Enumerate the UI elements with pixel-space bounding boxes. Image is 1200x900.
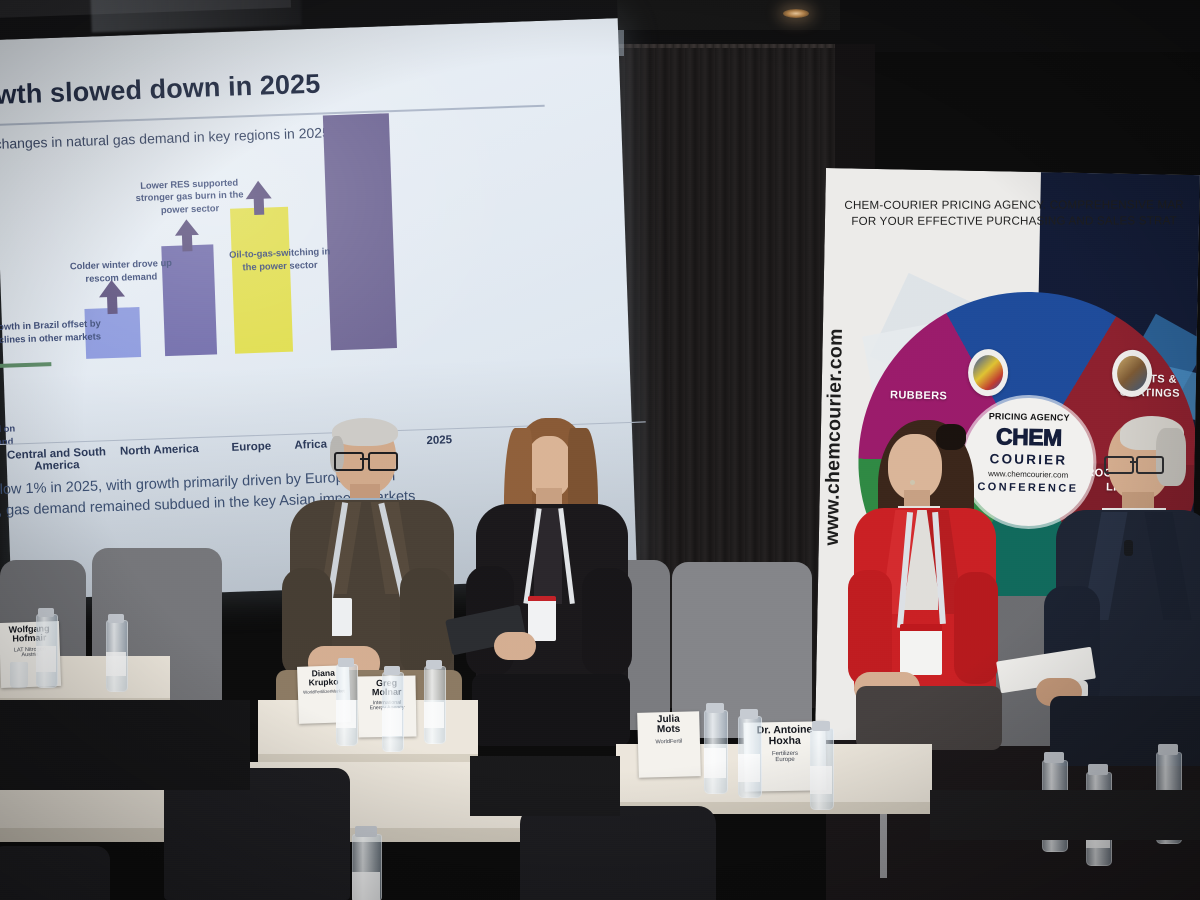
- banner-headline-line2: FOR YOUR EFFECTIVE PURCHASING AND SALES …: [839, 214, 1189, 231]
- nameplate-name-line2: Hoxha: [769, 736, 801, 747]
- tick-north-america: North America: [110, 443, 208, 458]
- bottle-label-1: [36, 646, 56, 672]
- panelist-4: [1030, 412, 1200, 752]
- bar-chart: …nomics and high …wed gas demand in Asia…: [0, 118, 646, 444]
- bottle-label-6: [704, 748, 726, 778]
- annotation-north-america: Colder winter drove up rescom demand: [62, 257, 181, 286]
- banner-headline: CHEM-COURIER PRICING AGENCY. COMPREHENSI…: [839, 197, 1189, 231]
- bottle-cap-5: [426, 660, 442, 669]
- bar-africa-middle-east: [230, 207, 293, 354]
- conference-panel-photo: …nd growth slowed down in 2025 …d year-o…: [0, 0, 1200, 900]
- bottle-label-8: [810, 766, 832, 794]
- bottle-cap-8: [812, 721, 830, 731]
- bottle-label-4: [382, 708, 402, 736]
- slide-title: …nd growth slowed down in 2025: [0, 64, 444, 115]
- bottle-label-2: [106, 652, 126, 676]
- annotation-africa-middle-east: Oil-to-gas-switching in the power sector: [223, 245, 336, 274]
- floor-shadow-band: [0, 700, 250, 790]
- panelist-2-hand: [494, 632, 536, 660]
- nameplate-org-line1: WorldFertil: [655, 739, 682, 746]
- bar-2025-total: [323, 113, 397, 350]
- bottle-label-14: [352, 872, 380, 900]
- floor-shadow-band3: [930, 790, 1200, 840]
- nameplate-name-line2: Krupko: [309, 677, 339, 687]
- bottle-cap-9: [1044, 752, 1064, 763]
- panelist-3-earring-icon: [910, 480, 915, 485]
- panelist-2-badge: [528, 596, 556, 641]
- panelist-3-badge: [900, 624, 942, 675]
- bottle-label-7: [738, 754, 760, 782]
- bar-central-south-america: [0, 362, 51, 368]
- spotlight-icon: [783, 9, 809, 18]
- foreground-chair-3: [0, 846, 110, 900]
- panelist-3-skirt: [856, 686, 1002, 750]
- nameplate-name-line2: Mots: [657, 725, 681, 736]
- sector-label-rubbers: RUBBERS: [876, 389, 962, 404]
- bottle-cap-4: [384, 666, 400, 675]
- banner-headline-line1: CHEM-COURIER PRICING AGENCY. COMPREHENSI…: [839, 197, 1189, 214]
- panelist-2: [452, 416, 642, 746]
- floor-shadow-band2: [470, 756, 620, 816]
- panelist-3-arm-left: [848, 570, 892, 686]
- panelist-3: [848, 420, 1018, 750]
- panelist-4-mic-icon: [1124, 540, 1133, 556]
- banner-vertical-url: www.chemcourier.com: [821, 328, 848, 546]
- annotation-europe: Lower RES supported stronger gas burn in…: [135, 176, 244, 217]
- panel-table-right-leg2: [880, 814, 887, 878]
- bottle-label-3: [336, 700, 356, 728]
- drinking-glass-1: [10, 662, 28, 688]
- bottle-cap-14: [355, 826, 377, 837]
- annotation-brazil: Growth in Brazil offset by declines in o…: [0, 318, 103, 347]
- tick-central-south-america: Central and South America: [6, 446, 107, 473]
- bottle-label-5: [424, 702, 444, 728]
- bottle-cap-6: [706, 703, 724, 713]
- arrow-up-africa-middle-east-icon: [245, 180, 272, 215]
- nameplate-org-line2: Europe: [775, 757, 794, 764]
- bottle-cap-11: [1158, 744, 1178, 755]
- bottle-cap-2: [108, 614, 124, 623]
- panelist-4-glasses-icon: [1104, 456, 1162, 470]
- panelist-2-arm-right: [582, 568, 632, 676]
- panelist-2-trousers: [472, 674, 630, 746]
- bottle-cap-3: [338, 658, 354, 667]
- nameplate-julia-mots: Julia Mots WorldFertil: [637, 711, 701, 778]
- arrow-up-europe-icon: [174, 219, 199, 252]
- bottle-cap-7: [740, 709, 758, 719]
- annotation-eurasia: Mild winter weighed on Eurasia's gas dem…: [0, 422, 24, 451]
- arrow-up-north-america-icon: [98, 280, 125, 315]
- panelist-3-hairclip-icon: [936, 424, 966, 450]
- panelist-1-glasses-icon: [334, 452, 396, 467]
- panelist-3-arm-right: [954, 572, 998, 684]
- bottle-cap-10: [1088, 764, 1108, 775]
- bottle-cap-1: [38, 608, 54, 617]
- foreground-chair-2: [520, 806, 716, 900]
